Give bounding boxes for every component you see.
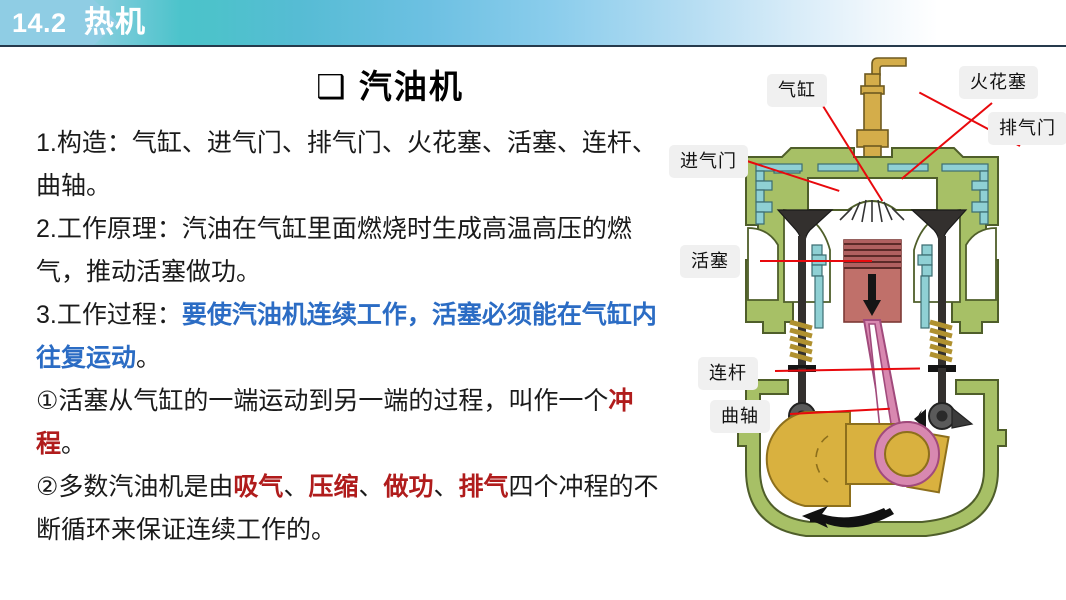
text-run: 。 [61,430,86,458]
section-title: 热机 [84,1,146,45]
text-run: ②多数汽油机是由 [36,473,233,501]
lesson-body-text: 1.构造：气缸、进气门、排气门、火花塞、活塞、连杆、曲轴。2.工作原理：汽油在气… [36,122,661,552]
paragraph-stroke-definition: ①活塞从气缸的一端运动到另一端的过程，叫作一个冲程。 [36,380,661,466]
paragraph-structure: 1.构造：气缸、进气门、排气门、火花塞、活塞、连杆、曲轴。 [36,122,661,208]
label-exhaust-valve: 排气门 [988,112,1066,145]
text-run: 做功 [383,473,433,501]
label-cylinder: 气缸 [767,74,827,107]
text-run: 2.工作原理：汽油在气缸里面燃烧时生成高温高压的燃气，推动活塞做功。 [36,215,632,286]
text-run: 3.工作过程： [36,301,182,329]
label-spark-plug: 火花塞 [959,66,1038,99]
paragraph-four-strokes: ②多数汽油机是由吸气、压缩、做功、排气四个冲程的不断循环来保证连续工作的。 [36,466,661,552]
text-run: 、 [358,473,383,501]
paragraph-principle: 2.工作原理：汽油在气缸里面燃烧时生成高温高压的燃气，推动活塞做功。 [36,208,661,294]
label-crankshaft: 曲轴 [710,400,770,433]
text-run: ①活塞从气缸的一端运动到另一端的过程，叫作一个 [36,387,608,415]
piston-graphic [844,240,901,322]
leader-line-piston [760,260,872,262]
paragraph-process: 3.工作过程：要使汽油机连续工作，活塞必须能在气缸内往复运动。 [36,294,661,380]
text-run: 。 [136,344,161,372]
label-connecting-rod: 连杆 [698,357,758,390]
text-run: 、 [434,473,459,501]
text-run: 排气 [459,473,509,501]
text-run: 1.构造：气缸、进气门、排气门、火花塞、活塞、连杆、曲轴。 [36,129,657,200]
label-piston: 活塞 [680,245,740,278]
crankshaft-graphic [767,412,949,506]
text-run: 压缩 [308,473,358,501]
page-title: ❑ 汽油机 [0,60,670,108]
header-divider-rule [0,45,1066,47]
text-run: 吸气 [233,473,283,501]
engine-diagram: 气缸 火花塞 进气门 排气门 活塞 连杆 曲轴 [660,50,1066,560]
slide-header-bar: 14.2 热机 [0,0,1066,45]
label-intake-valve: 进气门 [669,145,748,178]
section-number: 14.2 [12,3,67,43]
text-run: 、 [283,473,308,501]
spark-plug-graphic [857,58,906,162]
